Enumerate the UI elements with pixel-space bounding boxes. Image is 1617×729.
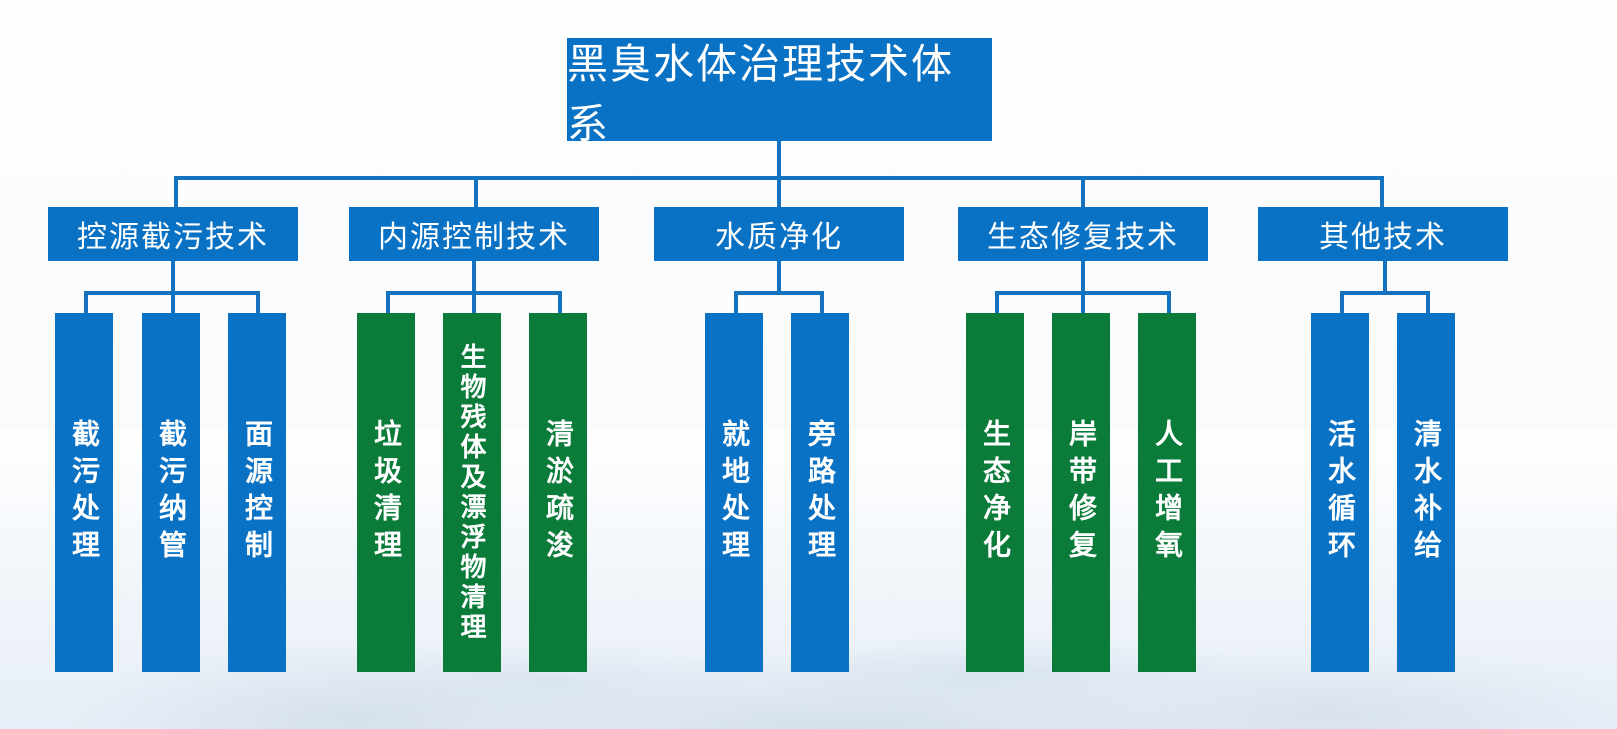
- leaf-node-3-2[interactable]: 旁路处理: [791, 313, 849, 672]
- category-node-5[interactable]: 其他技术: [1258, 207, 1508, 261]
- connector-g5-bar: [1340, 291, 1430, 295]
- leaf-node-5-2[interactable]: 清水补给: [1397, 313, 1455, 672]
- connector-g3-drop-1: [734, 291, 738, 313]
- leaf-node-1-3[interactable]: 面源控制: [228, 313, 286, 672]
- leaf-node-2-3[interactable]: 清淤疏浚: [529, 313, 587, 672]
- connector-g4-drop-2: [1081, 291, 1085, 313]
- category-node-3[interactable]: 水质净化: [654, 207, 904, 261]
- connector-g3-stem: [777, 261, 781, 295]
- connector-g3-drop-2: [820, 291, 824, 313]
- connector-g2-stem: [472, 261, 476, 295]
- leaf-node-4-2[interactable]: 岸带修复: [1052, 313, 1110, 672]
- connector-g1-stem: [171, 261, 175, 295]
- connector-g1-drop-2: [171, 291, 175, 313]
- leaf-node-3-1[interactable]: 就地处理: [705, 313, 763, 672]
- leaf-node-4-3[interactable]: 人工增氧: [1138, 313, 1196, 672]
- connector-g1-drop-3: [256, 291, 260, 313]
- connector-trunk-drop-4: [1081, 176, 1085, 209]
- connector-trunk-drop-1: [174, 176, 178, 209]
- leaf-node-2-1[interactable]: 垃圾清理: [357, 313, 415, 672]
- connector-g5-drop-1: [1340, 291, 1344, 313]
- connector-g4-drop-3: [1167, 291, 1171, 313]
- root-node[interactable]: 黑臭水体治理技术体系: [567, 38, 992, 141]
- connector-g5-drop-2: [1426, 291, 1430, 313]
- connector-g2-drop-1: [386, 291, 390, 313]
- diagram-canvas: 黑臭水体治理技术体系 控源截污技术 内源控制技术 水质净化 生态修复技术 其他技…: [0, 0, 1617, 729]
- leaf-node-2-2[interactable]: 生物残体及漂浮物清理: [443, 313, 501, 672]
- connector-trunk-drop-3: [777, 176, 781, 209]
- leaf-node-5-1[interactable]: 活水循环: [1311, 313, 1369, 672]
- leaf-node-4-1[interactable]: 生态净化: [966, 313, 1024, 672]
- connector-g3-bar: [734, 291, 824, 295]
- connector-trunk-drop-2: [474, 176, 478, 209]
- category-node-2[interactable]: 内源控制技术: [349, 207, 599, 261]
- connector-g2-drop-2: [472, 291, 476, 313]
- connector-g2-drop-3: [558, 291, 562, 313]
- connector-root-stem: [777, 141, 781, 178]
- connector-g1-drop-1: [84, 291, 88, 313]
- connector-g4-drop-1: [995, 291, 999, 313]
- connector-trunk-drop-5: [1380, 176, 1384, 209]
- leaf-node-1-1[interactable]: 截污处理: [55, 313, 113, 672]
- category-node-4[interactable]: 生态修复技术: [958, 207, 1208, 261]
- category-node-1[interactable]: 控源截污技术: [48, 207, 298, 261]
- leaf-node-1-2[interactable]: 截污纳管: [142, 313, 200, 672]
- connector-g5-stem: [1383, 261, 1387, 295]
- connector-g4-stem: [1081, 261, 1085, 295]
